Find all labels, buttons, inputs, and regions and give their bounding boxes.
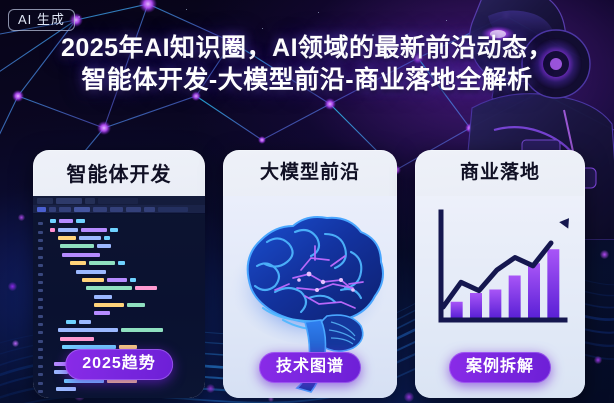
ai-generated-badge: AI 生成 xyxy=(8,9,75,31)
growth-bar-chart xyxy=(415,196,585,346)
chart-bar xyxy=(451,302,463,318)
card-title: 商业落地 xyxy=(415,150,585,184)
chart-bar xyxy=(528,263,540,317)
title-line-1: 2025年AI知识圈，AI领域的最新前沿动态， xyxy=(61,34,553,62)
chart-bar xyxy=(547,249,559,317)
card-business-landing[interactable]: 商业落地 案例拆解 xyxy=(415,150,585,398)
card-pill-tech-map[interactable]: 技术图谱 xyxy=(259,352,361,383)
chart-bar xyxy=(470,293,482,318)
title-line-2: 智能体开发-大模型前沿-商业落地全解析 xyxy=(14,64,600,96)
cards-row: 智能体开发 2025趋势 xyxy=(0,150,614,403)
card-agent-development[interactable]: 智能体开发 2025趋势 xyxy=(33,150,205,398)
chart-bar xyxy=(489,290,501,318)
card-title: 智能体开发 xyxy=(33,150,205,186)
card-large-model-frontier[interactable]: 大模型前沿 技术图谱 xyxy=(223,150,397,398)
chart-trend-arrow xyxy=(559,218,569,229)
card-title: 大模型前沿 xyxy=(223,150,397,184)
page-title: 2025年AI知识圈，AI领域的最新前沿动态， 智能体开发-大模型前沿-商业落地… xyxy=(0,32,614,96)
card-pill-2025-trend[interactable]: 2025趋势 xyxy=(65,349,173,380)
chart-bar xyxy=(509,276,521,318)
poster-root: AI 生成 2025年AI知识圈，AI领域的最新前沿动态， 智能体开发-大模型前… xyxy=(0,0,614,403)
card-pill-case-study[interactable]: 案例拆解 xyxy=(449,352,551,383)
